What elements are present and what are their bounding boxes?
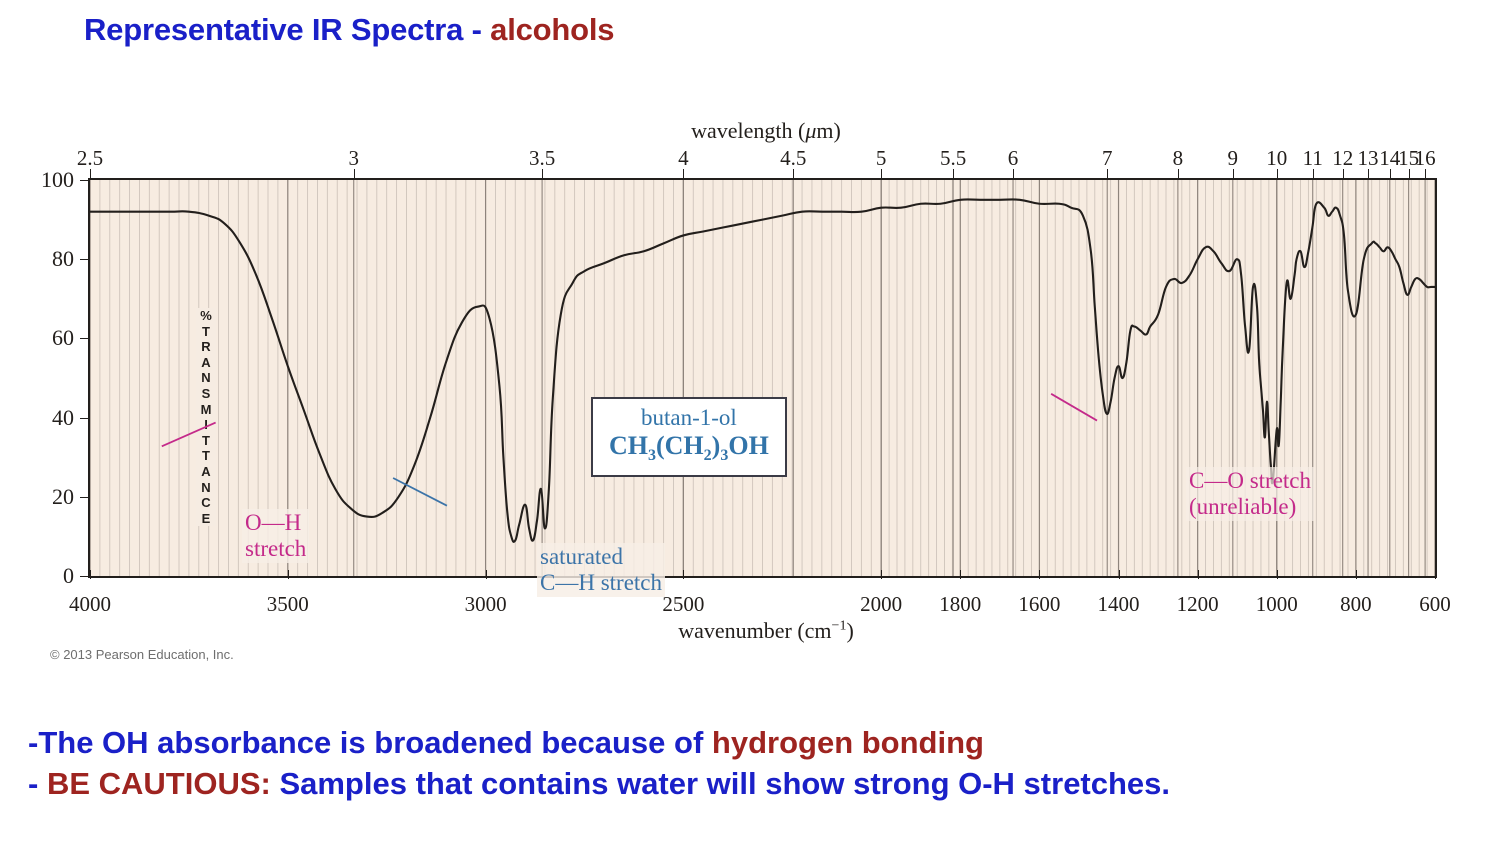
bottom-axis-tick-mark	[90, 570, 91, 579]
bullet-2-text-blue: Samples that contains water will show st…	[271, 766, 1162, 801]
top-axis-tick-label: 9	[1228, 146, 1239, 171]
annotation-oh-line1: O—H	[245, 510, 306, 536]
ir-spectrum-figure: wavelength (μm) %TRANSMITTANCE O—H stret…	[0, 110, 1495, 670]
top-axis-tick-label: 10	[1266, 146, 1287, 171]
annotation-co-line2: (unreliable)	[1189, 494, 1311, 520]
bullet-1-dash: -	[28, 725, 38, 760]
bottom-axis-tick-label: 2000	[860, 592, 902, 617]
top-axis-tick-mark	[90, 169, 91, 178]
bottom-axis-tick-mark	[1435, 570, 1436, 579]
top-axis-tick-label: 8	[1173, 146, 1184, 171]
bottom-axis-tick-label: 4000	[69, 592, 111, 617]
top-axis-tick-mark	[881, 169, 882, 178]
top-axis-tick-mark	[683, 169, 684, 178]
y-axis-tick-mark	[80, 180, 88, 181]
bullet-1-text-red: hydrogen bonding	[712, 725, 984, 760]
top-axis-tick-label: 14	[1379, 146, 1400, 171]
title-dash: -	[463, 12, 490, 47]
compound-label-box: butan-1-ol CH3(CH2)3OH	[591, 397, 787, 477]
bullet-1-text-blue: The OH absorbance is broadened because o…	[38, 725, 712, 760]
top-axis-tick-label: 12	[1332, 146, 1353, 171]
bottom-axis-tick-mark	[881, 570, 882, 579]
annotation-co-stretch: C—O stretch (unreliable)	[1186, 467, 1314, 521]
top-axis-tick-label: 4	[678, 146, 689, 171]
bottom-axis-tick-label: 2500	[662, 592, 704, 617]
top-axis-tick-mark	[1343, 169, 1344, 178]
bottom-axis-tick-label: 1200	[1177, 592, 1219, 617]
bullet-2-text-red: BE CAUTIOUS:	[47, 766, 271, 801]
y-axis-tick-label: 20	[14, 484, 74, 510]
top-axis-tick-mark	[354, 169, 355, 178]
top-axis-tick-label: 3	[348, 146, 359, 171]
bottom-axis-tick-label: 3000	[465, 592, 507, 617]
top-axis-tick-label: 2.5	[77, 146, 103, 171]
top-axis-tick-mark	[542, 169, 543, 178]
top-axis-tick-label: 13	[1358, 146, 1379, 171]
bottom-axis-tick-label: 800	[1340, 592, 1372, 617]
plot-area: %TRANSMITTANCE O—H stretch saturated C—H…	[88, 178, 1437, 578]
top-axis-tick-mark	[1178, 169, 1179, 178]
y-axis-tick-mark	[80, 576, 88, 577]
bullet-item-2: - BE CAUTIOUS: Samples that contains wat…	[0, 763, 1495, 804]
y-axis-tick-mark	[80, 497, 88, 498]
y-axis-tick-label: 100	[14, 167, 74, 193]
bottom-axis-tick-mark	[1198, 570, 1199, 579]
top-axis-title: wavelength (μm)	[691, 118, 841, 144]
top-axis-tick-label: 3.5	[529, 146, 555, 171]
top-axis-tick-mark	[1277, 169, 1278, 178]
top-axis-tick-mark	[1425, 169, 1426, 178]
top-axis-tick-mark	[1409, 169, 1410, 178]
y-axis-tick-mark	[80, 259, 88, 260]
top-axis-tick-mark	[1368, 169, 1369, 178]
bottom-axis-tick-label: 1400	[1098, 592, 1140, 617]
top-axis-tick-mark	[1233, 169, 1234, 178]
bottom-axis-tick-label: 600	[1419, 592, 1451, 617]
top-axis-tick-mark	[793, 169, 794, 178]
bottom-axis-tick-label: 1600	[1018, 592, 1060, 617]
bottom-axis-tick-label: 1000	[1256, 592, 1298, 617]
y-axis-tick-label: 80	[14, 246, 74, 272]
compound-name: butan-1-ol	[609, 405, 769, 431]
top-axis-tick-label: 6	[1008, 146, 1019, 171]
title-main-text: Representative IR Spectra	[84, 12, 463, 47]
top-axis-tick-label: 5	[876, 146, 887, 171]
annotation-co-line1: C—O stretch	[1189, 468, 1311, 494]
bottom-axis-tick-mark	[486, 570, 487, 579]
annotation-oh-line2: stretch	[245, 536, 306, 562]
bottom-axis-tick-label: 1800	[939, 592, 981, 617]
y-axis-tick-label: 60	[14, 325, 74, 351]
y-axis-tick-label: 40	[14, 405, 74, 431]
y-axis-vertical-label: %TRANSMITTANCE	[196, 308, 216, 526]
top-axis-tick-mark	[1107, 169, 1108, 178]
annotation-ch-line1: saturated	[540, 544, 662, 570]
bullet-item-1: -The OH absorbance is broadened because …	[0, 722, 1495, 763]
bottom-axis-tick-mark	[683, 570, 684, 579]
top-axis-tick-label: 4.5	[780, 146, 806, 171]
bottom-axis-tick-mark	[1039, 570, 1040, 579]
bottom-axis-tick-label: 3500	[267, 592, 309, 617]
bottom-axis-tick-mark	[1356, 570, 1357, 579]
top-axis-tick-mark	[1390, 169, 1391, 178]
top-axis-tick-mark	[953, 169, 954, 178]
top-axis-tick-label: 5.5	[940, 146, 966, 171]
title-accent-text: alcohols	[490, 12, 614, 47]
top-axis-tick-mark	[1313, 169, 1314, 178]
top-axis-tick-mark	[1013, 169, 1014, 178]
bullet-2-text-period: .	[1161, 766, 1170, 801]
annotation-oh-stretch: O—H stretch	[242, 509, 309, 563]
page-title: Representative IR Spectra - alcohols	[84, 12, 614, 48]
bottom-axis-title: wavenumber (cm−1)	[678, 618, 854, 644]
top-axis-tick-label: 16	[1415, 146, 1436, 171]
top-axis-tick-label: 11	[1303, 146, 1323, 171]
bullet-list: -The OH absorbance is broadened because …	[0, 722, 1495, 804]
bottom-axis-tick-mark	[1277, 570, 1278, 579]
y-axis-tick-mark	[80, 418, 88, 419]
bottom-axis-tick-mark	[1119, 570, 1120, 579]
bottom-axis-tick-mark	[288, 570, 289, 579]
annotation-ch-stretch: saturated C—H stretch	[537, 543, 665, 597]
copyright-notice: © 2013 Pearson Education, Inc.	[50, 647, 234, 662]
y-axis-tick-label: 0	[14, 563, 74, 589]
bullet-2-dash: -	[28, 766, 47, 801]
y-axis-tick-mark	[80, 338, 88, 339]
annotation-ch-line2: C—H stretch	[540, 570, 662, 596]
compound-formula: CH3(CH2)3OH	[609, 431, 769, 466]
top-axis-tick-label: 7	[1102, 146, 1113, 171]
bottom-axis-tick-mark	[960, 570, 961, 579]
